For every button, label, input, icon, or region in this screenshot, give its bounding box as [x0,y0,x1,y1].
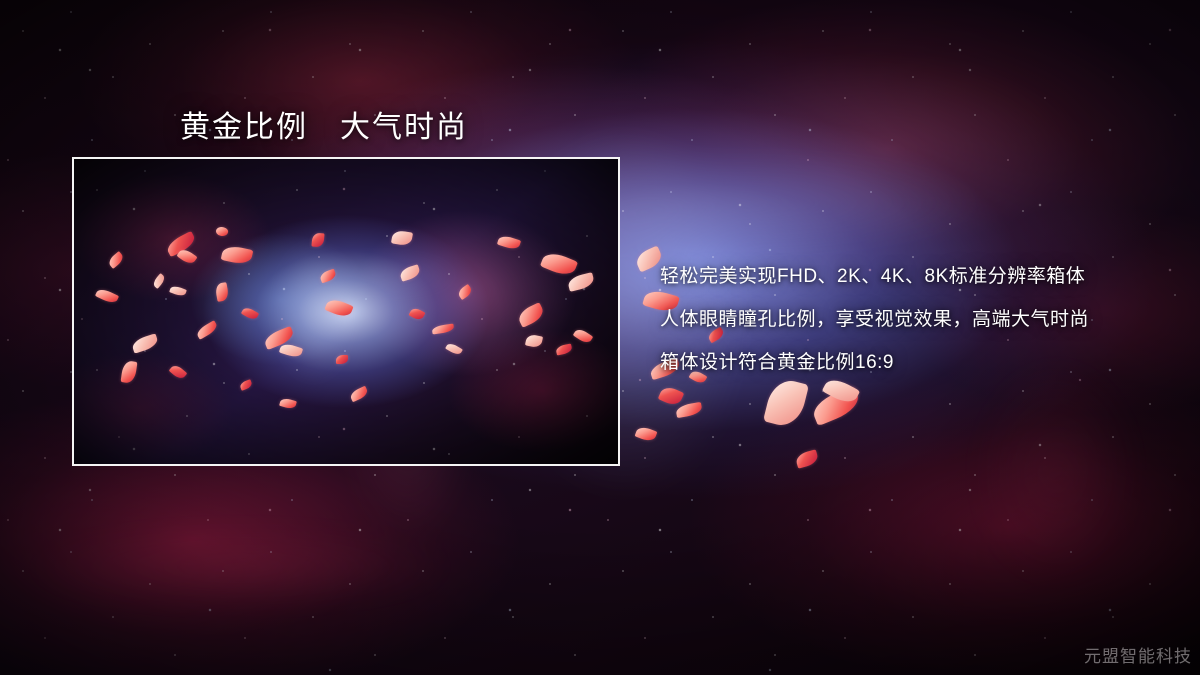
watermark: 元盟智能科技 [1084,642,1192,667]
body-text-block: 轻松完美实现FHD、2K、4K、8K标准分辨率箱体 人体眼睛瞳孔比例，享受视觉效… [660,255,1180,384]
presentation-slide: 黄金比例 大气时尚 轻松完美实现FHD、2K、4K、8K标准分辨率箱体 人体眼睛… [0,0,1200,675]
body-line: 轻松完美实现FHD、2K、4K、8K标准分辨率箱体 [660,255,1180,298]
body-line: 箱体设计符合黄金比例16:9 [660,341,1180,384]
page-title: 黄金比例 大气时尚 [180,102,468,146]
framed-image [72,157,620,466]
body-line: 人体眼睛瞳孔比例，享受视觉效果，高端大气时尚 [660,298,1180,341]
